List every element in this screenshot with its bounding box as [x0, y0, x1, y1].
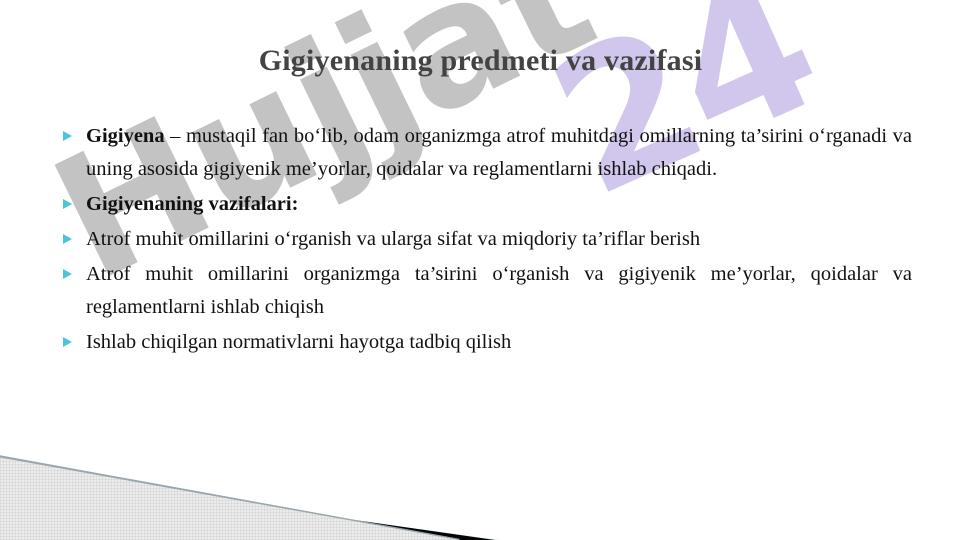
decoration-pale-band	[0, 430, 500, 540]
list-item-text: Atrof muhit omillarini organizmga ta’sir…	[86, 258, 912, 324]
list-item-text: Gigiyenaning vazifalari:	[86, 193, 298, 215]
list-item: Ishlab chiqilgan normativlarni hayotga t…	[60, 326, 912, 359]
list-item-text: Gigiyena – mustaqil fan bo‘lib, odam org…	[86, 120, 912, 186]
list-item: Atrof muhit omillarini o‘rganish va ular…	[60, 223, 912, 256]
decoration-hairline	[0, 430, 470, 540]
list-item-body: – mustaqil fan bo‘lib, odam organizmga a…	[86, 125, 912, 180]
decoration-dark-edge	[0, 430, 500, 540]
decoration-texture-band	[0, 430, 470, 540]
list-item: Gigiyenaning vazifalari:	[60, 188, 912, 221]
list-item-text: Ishlab chiqilgan normativlarni hayotga t…	[86, 331, 511, 353]
slide-canvas: Hujjat 24 Gigiyenaning predmeti va vazif…	[0, 0, 961, 540]
slide-title: Gigiyenaning predmeti va vazifasi	[0, 44, 961, 78]
bullet-list: Gigiyena – mustaqil fan bo‘lib, odam org…	[60, 120, 912, 361]
bullet-triangle-icon	[63, 234, 72, 244]
bullet-triangle-icon	[63, 131, 72, 141]
bullet-triangle-icon	[63, 269, 72, 279]
list-item-lead: Gigiyena	[86, 125, 165, 147]
corner-decoration	[0, 430, 500, 540]
bullet-triangle-icon	[63, 337, 72, 347]
list-item: Gigiyena – mustaqil fan bo‘lib, odam org…	[60, 120, 912, 186]
list-item-text: Atrof muhit omillarini o‘rganish va ular…	[86, 228, 700, 250]
bullet-triangle-icon	[63, 199, 72, 209]
list-item: Atrof muhit omillarini organizmga ta’sir…	[60, 258, 912, 324]
